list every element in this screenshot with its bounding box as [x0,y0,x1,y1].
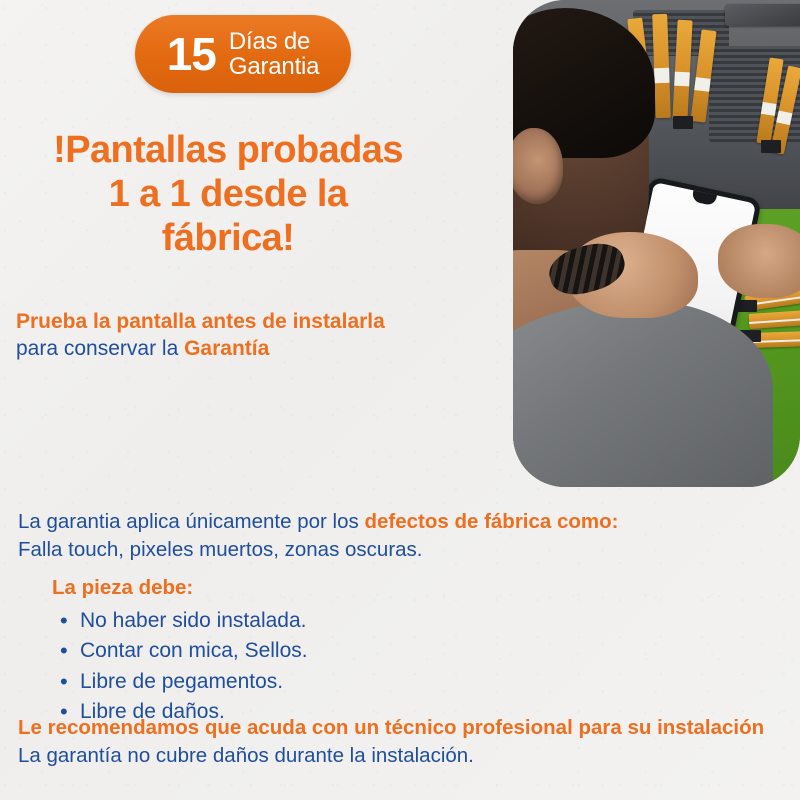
subheading-line-2: para conservar la Garantía [16,335,456,362]
subheading-emphasis: Garantía [184,337,269,360]
headline-line-1: !Pantallas probadas [53,129,403,171]
photo-tray-top [725,4,800,26]
warranty-paragraph: La garantia aplica únicamente por los de… [18,508,782,565]
footer-recommendation: Le recomendamos que acuda con un técnico… [18,714,786,769]
main-headline: !Pantallas probadas 1 a 1 desde la fábri… [0,128,456,260]
list-item: Contar con mica, Sellos. [58,636,478,666]
warranty-line2: Falla touch, pixeles muertos, zonas oscu… [18,538,423,561]
subheading-prefix: para conservar la [16,337,184,360]
requirements-title: La pieza debe: [52,576,193,600]
warranty-badge: 15 Días de Garantia [135,15,351,93]
photo-scene [513,0,800,487]
footer-normal: La garantía no cubre daños durante la in… [18,744,474,767]
photo-connector-3 [761,140,781,153]
headline-line-2: 1 a 1 desde la [109,173,348,215]
photo-screen-notch [691,190,717,206]
list-item: Libre de pegamentos. [58,667,478,697]
warranty-line1-emphasis: defectos de fábrica como: [364,510,618,533]
subheading-line-1: Prueba la pantalla antes de instalarla [16,308,456,335]
badge-label: Días de Garantia [229,29,319,79]
list-item: No haber sido instalada. [58,606,478,636]
photo-technician-shoulder [513,300,773,487]
requirements-list: No haber sido instalada. Contar con mica… [58,606,478,728]
headline-line-3: fábrica! [162,217,294,259]
badge-days-number: 15 [167,31,216,77]
footer-emphasis: Le recomendamos que acuda con un técnico… [18,716,764,739]
photo-technician-ear [513,128,563,204]
technician-testing-photo [513,0,800,487]
badge-label-line1: Días de [229,28,310,55]
warranty-line1-prefix: La garantia aplica únicamente por los [18,510,364,533]
subheading: Prueba la pantalla antes de instalarla p… [16,308,456,363]
photo-second-hand [718,224,800,298]
photo-connector-2 [673,116,693,129]
badge-label-line2: Garantia [229,53,319,80]
